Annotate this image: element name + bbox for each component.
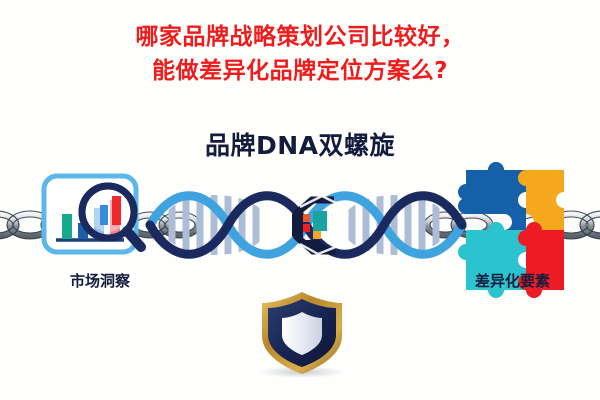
emblem-accent-teal [313,211,327,231]
emblem-accent-orange [303,214,310,222]
page-subtitle: 品牌DNA双螺旋 [0,126,600,162]
shield-icon [258,292,346,378]
emblem-accent-red [303,224,310,232]
chart-bar-1 [62,214,72,239]
brand-strategy-infographic: 哪家品牌战略策划公司比较好， 能做差异化品牌定位方案么? 品牌DNA双螺旋 市场… [0,0,600,400]
market-insight-chart-magnifier-icon [44,176,141,252]
emblem-accent-amber [313,231,321,239]
chain-link-icon-left-inner [129,212,201,238]
left-node-caption: 市场洞察 [25,270,175,291]
headline-line-2: 能做差异化品牌定位方案么? [0,54,600,88]
right-node-caption: 差异化要素 [435,270,590,291]
headline-line-1: 哪家品牌战略策划公司比较好， [136,24,465,50]
page-headline: 哪家品牌战略策划公司比较好， 能做差异化品牌定位方案么? [0,20,600,88]
